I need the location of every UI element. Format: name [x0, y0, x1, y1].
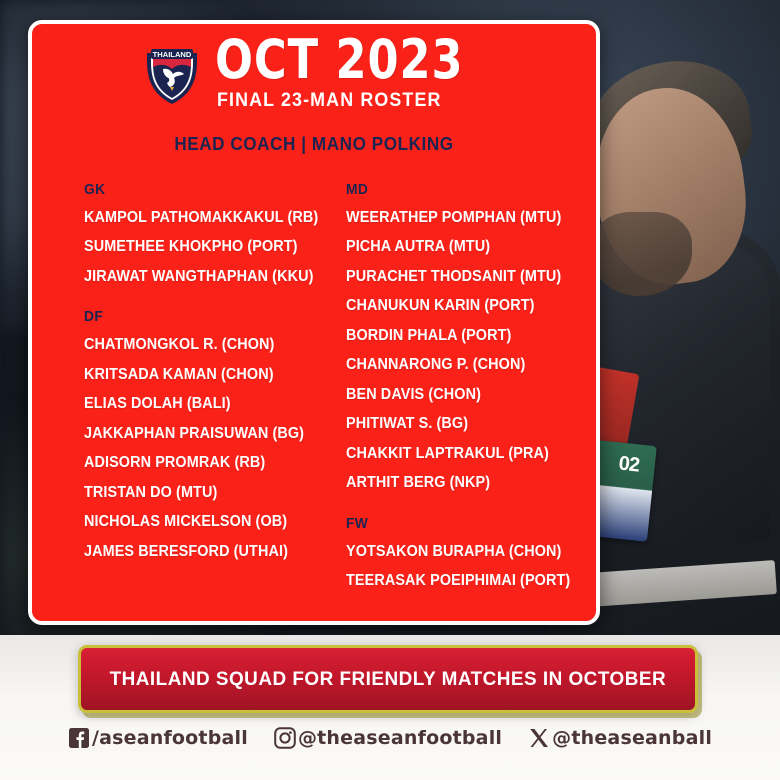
facebook-icon — [68, 727, 90, 749]
roster-column-left: GKKAMPOL PATHOMAKKAKUL (RB)SUMETHEE KHOK… — [32, 181, 336, 603]
roster-group-df: DFCHATMONGKOL R. (CHON)KRITSADA KAMAN (C… — [84, 308, 336, 559]
player-row: NICHOLAS MICKELSON (OB) — [84, 514, 318, 530]
social-link-facebook[interactable]: /aseanfootball — [68, 727, 248, 749]
roster-group-fw: FWYOTSAKON BURAPHA (CHON)TEERASAK POEIPH… — [346, 515, 587, 589]
player-row: JAKKAPHAN PRAISUWAN (BG) — [84, 426, 318, 442]
footer: THAILAND SQUAD FOR FRIENDLY MATCHES IN O… — [0, 635, 780, 780]
group-label-fw: FW — [346, 515, 568, 532]
instagram-icon — [274, 727, 296, 749]
page-subtitle: FINAL 23-MAN ROSTER — [217, 90, 442, 112]
player-row: PURACHET THODSANIT (MTU) — [346, 269, 570, 285]
player-row: KAMPOL PATHOMAKKAKUL (RB) — [84, 210, 318, 226]
card-header: THAILAND OCT 2023 FINAL 23-MAN ROSTER — [32, 24, 596, 112]
player-row: CHATMONGKOL R. (CHON) — [84, 337, 318, 353]
crest-label: THAILAND — [152, 50, 191, 59]
player-row: PHITIWAT S. (BG) — [346, 416, 570, 432]
player-row: ELIAS DOLAH (BALI) — [84, 396, 318, 412]
player-row: ADISORN PROMRAK (RB) — [84, 455, 318, 471]
player-row: TRISTAN DO (MTU) — [84, 485, 318, 501]
instagram-handle: @theaseanfootball — [298, 727, 502, 749]
player-row: PICHA AUTRA (MTU) — [346, 239, 570, 255]
headline-banner-text: THAILAND SQUAD FOR FRIENDLY MATCHES IN O… — [110, 668, 667, 691]
player-row: BORDIN PHALA (PORT) — [346, 328, 570, 344]
headline-banner[interactable]: THAILAND SQUAD FOR FRIENDLY MATCHES IN O… — [78, 645, 698, 713]
player-row: SUMETHEE KHOKPHO (PORT) — [84, 239, 318, 255]
roster-columns: GKKAMPOL PATHOMAKKAKUL (RB)SUMETHEE KHOK… — [32, 155, 596, 603]
group-label-md: MD — [346, 181, 568, 198]
x-twitter-icon — [528, 727, 550, 749]
facebook-handle: /aseanfootball — [92, 727, 248, 749]
player-row: CHAKKIT LAPTRAKUL (PRA) — [346, 446, 570, 462]
player-row: KRITSADA KAMAN (CHON) — [84, 367, 318, 383]
player-row: BEN DAVIS (CHON) — [346, 387, 570, 403]
roster-column-right: MDWEERATHEP POMPHAN (MTU)PICHA AUTRA (MT… — [336, 181, 587, 603]
player-row: TEERASAK POEIPHIMAI (PORT) — [346, 573, 570, 589]
player-row: CHANNARONG P. (CHON) — [346, 357, 570, 373]
roster-card: THAILAND OCT 2023 FINAL 23-MAN ROSTER HE… — [28, 20, 600, 625]
group-label-gk: GK — [84, 181, 316, 198]
player-row: YOTSAKON BURAPHA (CHON) — [346, 544, 570, 560]
social-links: /aseanfootball @theaseanfootball @thease… — [0, 727, 780, 749]
roster-group-gk: GKKAMPOL PATHOMAKKAKUL (RB)SUMETHEE KHOK… — [84, 181, 336, 285]
group-label-df: DF — [84, 308, 316, 325]
thailand-fa-crest-icon: THAILAND — [143, 41, 201, 105]
page-title: OCT 2023 — [215, 34, 464, 86]
x-handle: @theaseanball — [552, 727, 712, 749]
roster-group-md: MDWEERATHEP POMPHAN (MTU)PICHA AUTRA (MT… — [346, 181, 587, 491]
player-row: JIRAWAT WANGTHAPHAN (KKU) — [84, 269, 318, 285]
title-block: OCT 2023 FINAL 23-MAN ROSTER — [215, 34, 485, 112]
social-link-instagram[interactable]: @theaseanfootball — [274, 727, 502, 749]
player-row: CHANUKUN KARIN (PORT) — [346, 298, 570, 314]
player-row: WEERATHEP POMPHAN (MTU) — [346, 210, 570, 226]
head-coach-line: HEAD COACH | MANO POLKING — [46, 134, 582, 155]
player-row: JAMES BERESFORD (UTHAI) — [84, 544, 318, 560]
social-link-x[interactable]: @theaseanball — [528, 727, 712, 749]
player-row: ARTHIT BERG (NKP) — [346, 475, 570, 491]
